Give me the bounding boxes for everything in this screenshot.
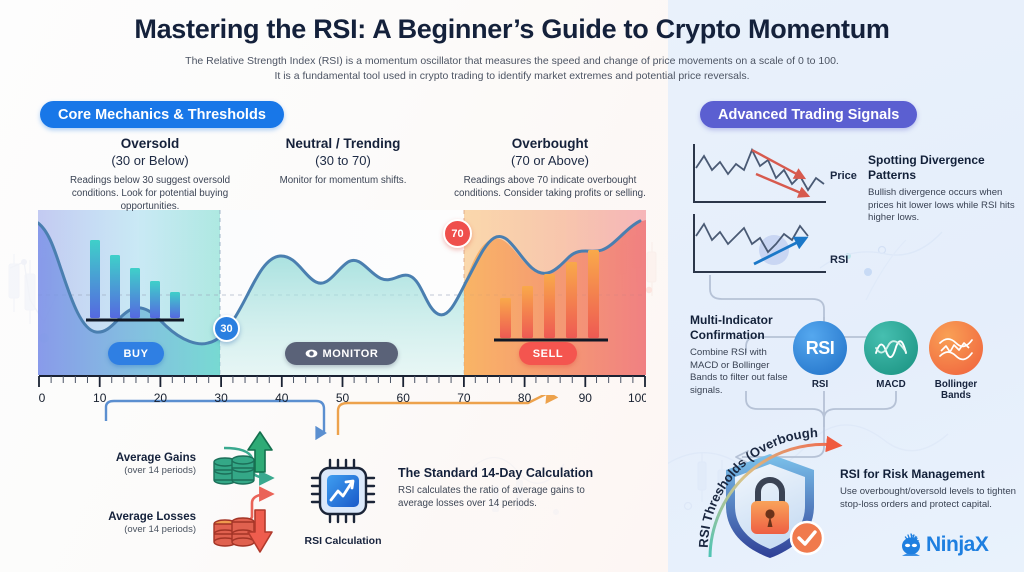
divergence-text-block: Spotting Divergence Patterns Bullish div… — [868, 153, 1018, 225]
indicator-name: RSI — [793, 379, 847, 390]
rsi-divergence-chart — [694, 214, 826, 272]
subtitle-line-2: It is a fundamental tool used in crypto … — [0, 69, 1024, 84]
axis-major-ticks — [39, 376, 645, 387]
zone-range: (30 or Below) — [55, 152, 245, 169]
cpu-chip-icon — [308, 456, 378, 526]
risk-arc: RSI Thresholds (Overbought/Oversold) — [690, 415, 870, 565]
indicator-circle: RSI — [793, 321, 847, 375]
section-pill-core-mechanics: Core Mechanics & Thresholds — [40, 101, 284, 128]
header: Mastering the RSI: A Beginner’s Guide to… — [0, 0, 1024, 90]
threshold-badge-70: 70 — [443, 219, 472, 248]
zone-overbought: Overbought (70 or Above) Readings above … — [452, 136, 648, 200]
coins-down-icon — [205, 486, 275, 560]
divergence-body: Bullish divergence occurs when prices hi… — [868, 187, 1018, 225]
zone-title: Oversold — [55, 136, 245, 152]
action-label: MONITOR — [323, 348, 379, 360]
rsi-calculation-chip: RSI Calculation — [302, 456, 384, 547]
divergence-charts — [690, 140, 850, 280]
multi-indicator-text-block: Multi-Indicator Confirmation Combine RSI… — [690, 313, 790, 397]
label-title: Average Gains — [84, 452, 196, 464]
tick-label: 10 — [93, 391, 107, 405]
rsi-line-small — [696, 224, 808, 252]
calculation-heading: The Standard 14-Day Calculation — [398, 466, 613, 480]
page-subtitle: The Relative Strength Index (RSI) is a m… — [0, 54, 1024, 84]
tick-label: 80 — [518, 391, 532, 405]
zone-desc: Monitor for momentum shifts. — [248, 174, 438, 187]
label-sub: (over 14 periods) — [84, 465, 196, 476]
label-sub: (over 14 periods) — [84, 524, 196, 535]
tick-label: 0 — [39, 391, 46, 405]
tick-label: 50 — [336, 391, 350, 405]
zone-title: Overbought — [452, 136, 648, 152]
chip-caption: RSI Calculation — [302, 535, 384, 547]
average-losses-label: Average Losses (over 14 periods) — [84, 511, 196, 535]
zone-oversold: Oversold (30 or Below) Readings below 30… — [55, 136, 245, 213]
indicator-name: MACD — [864, 379, 918, 390]
bar — [544, 274, 555, 338]
label-title: Average Losses — [84, 511, 196, 523]
tick-label: 30 — [214, 391, 228, 405]
calculation-body: RSI calculates the ratio of average gain… — [398, 484, 613, 510]
indicator-circle — [864, 321, 918, 375]
subtitle-line-1: The Relative Strength Index (RSI) is a m… — [0, 54, 1024, 69]
brand-name: NinjaX — [926, 533, 988, 557]
bar — [522, 286, 533, 338]
multi-indicator-body: Combine RSI with MACD or Bollinger Bands… — [690, 347, 790, 397]
action-pill-sell[interactable]: SELL — [519, 342, 577, 365]
action-label: BUY — [123, 348, 148, 360]
section-pill-advanced-signals: Advanced Trading Signals — [700, 101, 917, 128]
brand-logo: NinjaX — [900, 533, 988, 557]
indicator-circle — [929, 321, 983, 375]
indicator-rsi: RSI RSI — [793, 321, 847, 390]
infographic-root: Mastering the RSI: A Beginner’s Guide to… — [0, 0, 1024, 572]
svg-text:RSI Thresholds (Overbought/Ove: RSI Thresholds (Overbought/Oversold) — [690, 415, 818, 548]
tick-label: 90 — [579, 391, 593, 405]
calculation-text: The Standard 14-Day Calculation RSI calc… — [398, 466, 613, 510]
zone-title: Neutral / Trending — [248, 136, 438, 152]
bar — [170, 292, 180, 318]
zone-range: (70 or Above) — [452, 152, 648, 169]
price-axis-label: Price — [830, 170, 857, 182]
ninja-mask-icon — [900, 533, 922, 557]
connector-down-from-charts — [710, 275, 824, 317]
bar — [130, 268, 140, 318]
threshold-badge-30: 30 — [213, 315, 240, 342]
multi-indicator-heading: Multi-Indicator Confirmation — [690, 313, 790, 343]
bar — [500, 298, 511, 338]
action-label: SELL — [533, 348, 564, 360]
price-line — [696, 150, 824, 190]
bar — [90, 240, 100, 318]
action-pill-buy[interactable]: BUY — [108, 342, 164, 365]
eye-icon — [305, 347, 318, 360]
bar — [566, 262, 577, 338]
rsi-axis-label: RSI — [830, 254, 848, 266]
tick-label: 60 — [397, 391, 411, 405]
bar — [150, 281, 160, 318]
tick-label: 20 — [154, 391, 168, 405]
price-divergence-chart — [694, 144, 826, 202]
indicator-name: Bollinger Bands — [929, 379, 983, 401]
tick-label: 40 — [275, 391, 289, 405]
axis-tick-labels: 0 10 20 30 40 50 60 70 80 90 100 — [39, 391, 646, 405]
bar — [110, 255, 120, 318]
tick-label: 100 — [628, 391, 646, 405]
action-pill-monitor[interactable]: MONITOR — [285, 342, 398, 365]
average-gains-label: Average Gains (over 14 periods) — [84, 452, 196, 476]
zone-range: (30 to 70) — [248, 152, 438, 169]
rsi-axis: 0 10 20 30 40 50 60 70 80 90 100 — [38, 374, 646, 408]
tick-label: 70 — [457, 391, 471, 405]
indicator-badge: RSI — [806, 338, 835, 359]
zone-desc: Readings above 70 indicate overbought co… — [452, 174, 648, 200]
zone-neutral: Neutral / Trending (30 to 70) Monitor fo… — [248, 136, 438, 187]
page-title: Mastering the RSI: A Beginner’s Guide to… — [0, 14, 1024, 45]
indicator-bollinger: Bollinger Bands — [929, 321, 983, 401]
indicator-macd: MACD — [864, 321, 918, 390]
bollinger-bands-icon — [938, 334, 974, 362]
risk-arc-line — [710, 444, 836, 557]
macd-wave-icon — [874, 335, 908, 361]
zone-desc: Readings below 30 suggest oversold condi… — [55, 174, 245, 213]
bar — [588, 250, 599, 338]
divergence-heading: Spotting Divergence Patterns — [868, 153, 1018, 183]
risk-arc-label: RSI Thresholds (Overbought/Oversold) — [690, 415, 818, 548]
